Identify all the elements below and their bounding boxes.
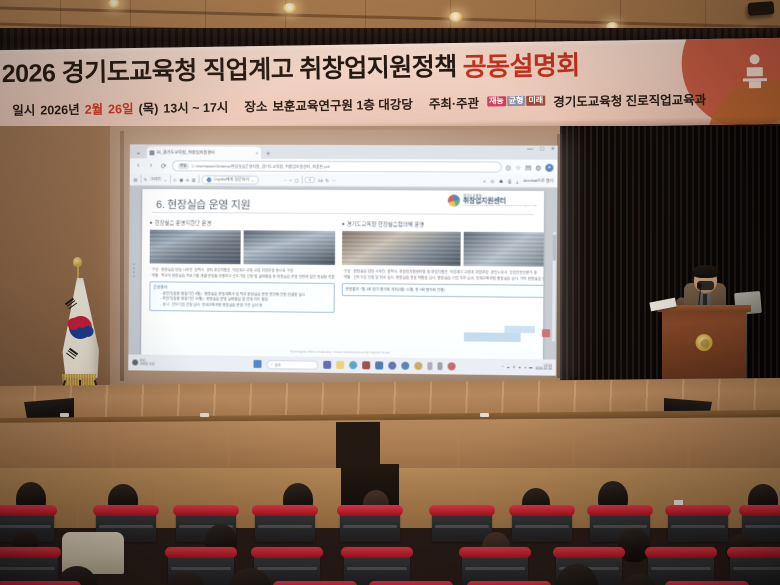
stage-edge-clip	[480, 413, 489, 417]
audience-seat	[512, 512, 572, 542]
banner-date-time: 13시 ~ 17시	[163, 96, 228, 116]
ceiling-projector	[748, 1, 775, 16]
banner-date-month: 2월	[84, 98, 103, 117]
scrollbar-thumb[interactable]	[553, 234, 556, 260]
host-logo-chips: 재능 균형 미래	[487, 95, 545, 107]
chrome-icon[interactable]	[415, 362, 423, 370]
minimize-button[interactable]: —	[527, 147, 533, 153]
outlook-icon[interactable]	[376, 361, 384, 369]
logo-sub-line: Gyeonggido Office of Education Career & …	[463, 205, 537, 208]
slide-right-column: 경기도교육청 현장실습협의체 운영 · 구성 : 현장실습 담당 사무관, 장학…	[341, 220, 544, 315]
copilot-label: Copilot에게 질문하기	[214, 176, 249, 182]
close-icon[interactable]: ×	[256, 150, 259, 155]
audience-seat	[668, 512, 728, 542]
audience-seat	[432, 512, 492, 542]
pdf-scrollbar[interactable]	[552, 232, 556, 341]
banner-title-part-2: 취창업지원정책	[299, 54, 457, 81]
gold-emblem	[696, 334, 713, 351]
wifi-icon[interactable]: ▲	[518, 365, 521, 369]
pdf-text-icon[interactable]: ▣	[179, 177, 183, 182]
browser-tab[interactable]: 11_경기도교육청_취창업지원센터 ×	[147, 146, 262, 158]
pdf-rotate-icon[interactable]: ↻	[326, 177, 329, 182]
pdf-person-icon[interactable]: ☗	[499, 178, 503, 183]
presentation-slide: 경기도교육청 취창업지원센터 Gyeonggido Office of Educ…	[141, 189, 544, 359]
close-window-button[interactable]: ×	[551, 147, 555, 153]
pdf-readaloud-icon[interactable]: ◎	[491, 178, 495, 183]
pdf-draw-label[interactable]: 그리기	[150, 176, 161, 182]
pdf-add-text-icon[interactable]: A	[186, 177, 189, 182]
teams-icon[interactable]	[324, 361, 332, 369]
pdf-tool-group-right: ⌕ ◎ ☗ ⎙ ⤓ Acrobat으로 열기	[483, 178, 553, 184]
auditorium-scene: 2026 경기도교육청 직업계고 취창업지원정책 공동설명회 일시 2026년 …	[0, 0, 780, 585]
microphone-icon	[697, 283, 702, 288]
collections-icon[interactable]: ▤	[525, 163, 531, 171]
volume-icon[interactable]: ◂	[524, 365, 526, 369]
pdf-page-total: 18	[318, 177, 322, 182]
banner-date-day: 26일	[108, 98, 134, 117]
search-placeholder-text: 검색	[275, 362, 281, 367]
banner-title-part-3: 공동설명회	[463, 52, 581, 80]
search-icon: ⌕	[271, 362, 273, 366]
excel-icon[interactable]	[402, 362, 410, 370]
event-banner: 2026 경기도교육청 직업계고 취창업지원정책 공동설명회 일시 2026년 …	[0, 38, 780, 136]
powerpoint-icon[interactable]	[389, 362, 397, 370]
hancom-icon[interactable]	[428, 362, 433, 370]
person-at-podium-icon	[738, 52, 773, 89]
pdf-search-icon[interactable]: ⌕	[483, 178, 485, 183]
pdf-comment-icon[interactable]: ▥	[192, 177, 196, 182]
ceiling-light	[108, 0, 121, 8]
weather-icon	[132, 359, 138, 365]
stage-edge-clip	[200, 413, 209, 417]
taskbar-pinned-apps	[324, 361, 457, 371]
host-chip-2: 균형	[507, 95, 526, 106]
pdf-save-icon[interactable]: ⤓	[516, 178, 518, 183]
taegukgi-flag	[50, 262, 108, 390]
profile-icon[interactable]: ◍	[535, 163, 541, 171]
pdf-sidebar-icon[interactable]: ▤	[134, 177, 138, 182]
bullet-icon	[342, 223, 344, 225]
taskbar-weather-widget[interactable]: 9°C 대체로 흐림	[132, 359, 209, 366]
pdf-tool-group-left: ▤ ✎ 그리기 ⌄ ◇ ▣ A ▥ Copilot에게 질문하기 ⌄	[134, 175, 260, 185]
bullet-icon	[150, 222, 152, 224]
right-callout-title: 운영결과 : 월 1회 정기 협의회 개최(3월~11월, 총 9회 협의회 진…	[345, 287, 544, 295]
right-body-line: · 역할 : 선도기업 인정 및 취소 심사, 현장실습 전공 적합성 심사, …	[342, 275, 545, 283]
file-explorer-icon[interactable]	[337, 361, 345, 369]
copilot-ask-button[interactable]: Copilot에게 질문하기 ⌄	[202, 175, 259, 184]
security-badge: 파일	[178, 163, 189, 169]
banner-place-value: 보훈교육연구원 1층 대강당	[272, 93, 413, 114]
audience-seat	[340, 512, 400, 542]
pdf-floating-action-button[interactable]	[542, 329, 550, 337]
banner-date-weekday: (목)	[138, 97, 158, 116]
pdf-zoom-in-icon[interactable]: +	[289, 177, 291, 182]
left-callout-box: 운영결과 - 상반기(집중 점검기간 4월) : 현장실습 운영계획서 및 학교…	[149, 281, 334, 312]
left-photo-group	[150, 230, 335, 265]
pdf-zoom-out-icon[interactable]: −	[284, 177, 286, 182]
pdf-file-icon	[150, 150, 155, 155]
input-method-icon[interactable]: A	[513, 365, 515, 369]
slide-columns: 현장실습 운영지원단 운영 · 구성 : 현장실습 담당 사무관, 장학사, 센…	[149, 219, 535, 315]
taskbar-center: ⌕ 검색	[209, 359, 502, 372]
left-column-heading: 현장실습 운영지원단 운영	[150, 219, 335, 228]
address-input[interactable]: 파일 C:/Users/user/Desktop/현장실습운영지원_경기도교육청…	[172, 160, 501, 172]
read-aloud-icon[interactable]: ◎	[505, 163, 511, 171]
organization-logo: 경기도교육청 취창업지원센터 Gyeonggido Office of Educ…	[448, 195, 537, 208]
taskbar-clock[interactable]: 13:24 2026-02-26	[535, 364, 552, 371]
maximize-button[interactable]: □	[540, 147, 544, 153]
word-icon[interactable]	[363, 361, 371, 369]
ceiling-light	[283, 3, 297, 13]
right-column-heading: 경기도교육청 현장실습협의체 운영	[342, 220, 544, 230]
pdf-highlight-icon[interactable]: ✎	[144, 177, 147, 182]
right-heading-text: 경기도교육청 현장실습협의체 운영	[347, 220, 425, 229]
start-icon[interactable]	[254, 360, 262, 368]
photos-icon[interactable]	[448, 362, 456, 370]
left-callout-item: - 상시 : 선도기업 선정 심사, 연계교육과정 현장실습 운영 기관 심사 …	[153, 302, 330, 309]
stage-front-dark-panel	[336, 422, 380, 470]
pdf-print-icon[interactable]: ⎙	[508, 178, 511, 183]
ceiling-light	[449, 12, 463, 22]
pdf-erase-icon[interactable]: ◇	[173, 177, 176, 182]
pdf-page-current[interactable]: 6	[305, 177, 315, 183]
pdf-viewport[interactable]: 경기도교육청 취창업지원센터 Gyeonggido Office of Educ…	[128, 186, 557, 360]
audience-area	[0, 488, 780, 585]
slide-photo	[464, 232, 544, 267]
browser-window: ⌄ 11_경기도교육청_취창업지원센터 × + — □ × ‹ › ⟳	[128, 144, 557, 375]
favorite-icon[interactable]: ☆	[515, 163, 521, 171]
address-url-text: C:/Users/user/Desktop/현장실습운영지원_경기도교육청_취창…	[191, 163, 329, 170]
forward-icon[interactable]: ›	[146, 162, 155, 169]
pinwheel-icon	[448, 195, 460, 207]
weather-condition: 대체로 흐림	[140, 363, 154, 366]
pdf-acrobat-label[interactable]: Acrobat으로 열기	[523, 178, 553, 184]
pdf-fit-icon[interactable]: ▢	[295, 177, 299, 182]
pdf-page-markers	[133, 263, 135, 277]
audience-seat	[255, 512, 315, 542]
new-tab-button[interactable]: +	[263, 151, 273, 159]
clock-date: 2026-02-26	[535, 367, 552, 371]
edge-icon[interactable]	[350, 361, 358, 369]
host-chip-3: 미래	[526, 95, 545, 106]
copilot-icon	[207, 177, 212, 182]
screen-frame-right	[557, 134, 562, 378]
screen-frame-left	[120, 131, 124, 381]
projected-screen: ⌄ 11_경기도교육청_취창업지원센터 × + — □ × ‹ › ⟳	[128, 144, 557, 375]
banner-date-label: 일시	[12, 99, 35, 118]
left-body-text: · 구성 : 현장실습 담당 사무관, 장학사, 센터 취업지원관, 직업계고 …	[150, 267, 335, 280]
browser-tab-title: 11_경기도교육청_취창업지원센터	[156, 149, 214, 155]
slide-photo	[150, 230, 241, 264]
tab-actions-icon[interactable]: ⌄	[134, 147, 143, 156]
left-body-line: · 역할 : 학교의 현장실습 프로그램 개발·운영을 지원하고 선도기업 선정…	[150, 273, 335, 280]
presenter-hair	[692, 265, 719, 278]
right-callout-box: 운영결과 : 월 1회 정기 협의회 개최(3월~11월, 총 9회 협의회 진…	[341, 283, 544, 298]
search-input[interactable]: ⌕ 검색	[267, 360, 319, 370]
text-selection-highlight	[504, 326, 534, 333]
banner-host-label: 주최·주관	[429, 92, 479, 112]
slide-photo	[243, 230, 335, 265]
banner-host-value: 경기도교육청 진로직업교육과	[553, 89, 706, 110]
battery-icon[interactable]: ▬	[529, 365, 532, 369]
address-bar-icons: ◎ ☆ ▤ ◍ ✦	[505, 163, 553, 171]
chevron-up-icon[interactable]: ^	[502, 365, 504, 369]
slide-left-column: 현장실습 운영지원단 운영 · 구성 : 현장실습 담당 사무관, 장학사, 센…	[149, 219, 335, 313]
right-photo-group	[342, 231, 544, 267]
slide-photo	[342, 231, 462, 266]
banner-place-label: 장소	[244, 95, 267, 114]
host-chip-1: 재능	[487, 96, 506, 107]
pdf-page-group: − + ▢ 6 18 ↻ ⋯	[284, 176, 336, 184]
text-selection-highlight	[464, 332, 521, 342]
browser-tab-strip: ⌄ 11_경기도교육청_취창업지원센터 × + — □ ×	[130, 144, 558, 159]
reload-icon[interactable]: ⟳	[159, 162, 168, 170]
notepad-icon[interactable]	[438, 362, 443, 370]
onedrive-icon[interactable]: ☁	[507, 365, 510, 369]
chevron-down-icon[interactable]: ⌄	[164, 177, 167, 182]
taskbar-system-tray: ^ ☁ A ▲ ◂ ▬ 13:24 2026-02-26	[502, 364, 552, 371]
banner-title-part-1: 2026 경기도교육청 직업계고	[2, 57, 294, 87]
window-controls: — □ ×	[527, 147, 555, 153]
right-body-text: · 구성 : 현장실습 담당 사무관, 장학사, 취창업지원센터장 및 취업지원…	[342, 269, 545, 282]
back-icon[interactable]: ‹	[134, 162, 143, 169]
copilot-icon[interactable]: ✦	[545, 163, 553, 171]
stage-edge-clip	[60, 413, 69, 417]
left-heading-text: 현장실습 운영지원단 운영	[155, 219, 212, 227]
chevron-down-icon: ⌄	[251, 177, 254, 182]
pdf-more-icon[interactable]: ⋯	[332, 177, 336, 182]
banner-date-year: 2026년	[40, 98, 80, 118]
